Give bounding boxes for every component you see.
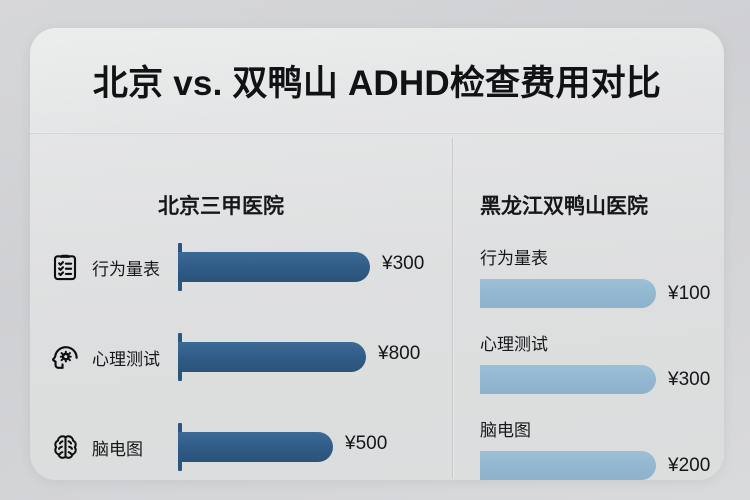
right-row-label: 心理测试	[480, 330, 720, 355]
left-row-eeg: 脑电图 ¥500	[48, 420, 452, 474]
left-bar-value: ¥300	[382, 253, 424, 275]
comparison-card: 北京 vs. 双鸭山 ADHD检查费用对比 北京三甲医院	[30, 28, 724, 480]
head-gear-icon	[48, 340, 82, 374]
right-row-label: 行为量表	[480, 244, 720, 269]
right-bar-value: ¥300	[668, 369, 710, 391]
left-bar	[178, 342, 366, 372]
clipboard-checklist-icon	[48, 250, 82, 284]
right-column-header: 黑龙江双鸭山医院	[480, 190, 648, 220]
left-bar	[178, 252, 370, 282]
right-bar-track: ¥100	[480, 279, 720, 309]
columns-container: 北京三甲医院 行为量表	[30, 134, 724, 480]
left-row-label: 行为量表	[92, 255, 178, 280]
right-row-behavior-scale: 行为量表 ¥100	[480, 244, 720, 309]
title-area: 北京 vs. 双鸭山 ADHD检查费用对比	[30, 28, 724, 133]
left-row-label: 心理测试	[92, 345, 178, 370]
left-bar-value: ¥800	[378, 343, 420, 365]
left-bar-value: ¥500	[345, 433, 387, 455]
left-bar-track: ¥500	[178, 420, 452, 474]
left-bar	[178, 432, 333, 462]
left-row-psych-test: 心理测试 ¥800	[48, 330, 452, 384]
page-background: 北京 vs. 双鸭山 ADHD检查费用对比 北京三甲医院	[0, 0, 750, 500]
page-title: 北京 vs. 双鸭山 ADHD检查费用对比	[93, 55, 661, 106]
left-row-behavior-scale: 行为量表 ¥300	[48, 240, 452, 294]
right-bar-track: ¥200	[480, 451, 720, 480]
column-divider	[452, 138, 453, 478]
right-bar-value: ¥200	[668, 455, 710, 477]
right-bar	[480, 365, 656, 394]
brain-icon	[48, 430, 82, 464]
left-bar-track: ¥800	[178, 330, 452, 384]
left-bar-track: ¥300	[178, 240, 452, 294]
left-column-header: 北京三甲医院	[158, 190, 284, 220]
right-bar-value: ¥100	[668, 283, 710, 305]
right-bar	[480, 451, 656, 480]
right-row-psych-test: 心理测试 ¥300	[480, 330, 720, 395]
left-row-label: 脑电图	[92, 435, 178, 460]
right-row-label: 脑电图	[480, 416, 720, 441]
right-bar	[480, 279, 656, 308]
right-bar-track: ¥300	[480, 365, 720, 395]
right-row-eeg: 脑电图 ¥200	[480, 416, 720, 480]
